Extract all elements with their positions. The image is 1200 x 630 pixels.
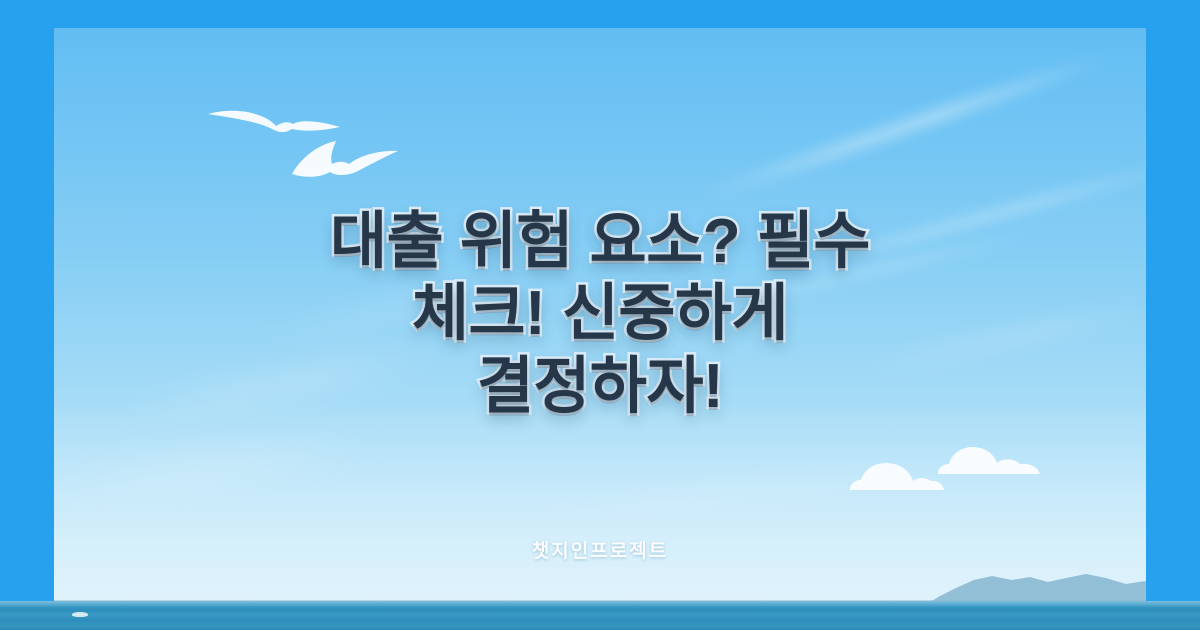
thumbnail-canvas: 대출 위험 요소? 필수 체크! 신중하게 결정하자! 챗지인프로젝트 bbox=[0, 0, 1200, 630]
headline-line-3: 결정하자! bbox=[477, 352, 723, 421]
headline-line-1: 대출 위험 요소? 필수 bbox=[330, 207, 870, 276]
page-title: 대출 위험 요소? 필수 체크! 신중하게 결정하자! bbox=[270, 206, 930, 424]
content-area: 대출 위험 요소? 필수 체크! 신중하게 결정하자! 챗지인프로젝트 bbox=[54, 28, 1146, 601]
sea-sheen bbox=[0, 601, 1200, 607]
sea bbox=[0, 601, 1200, 630]
boat-icon bbox=[72, 612, 88, 617]
headline-line-2: 체크! 신중하게 bbox=[412, 279, 788, 348]
brand-label: 챗지인프로젝트 bbox=[54, 536, 1146, 563]
